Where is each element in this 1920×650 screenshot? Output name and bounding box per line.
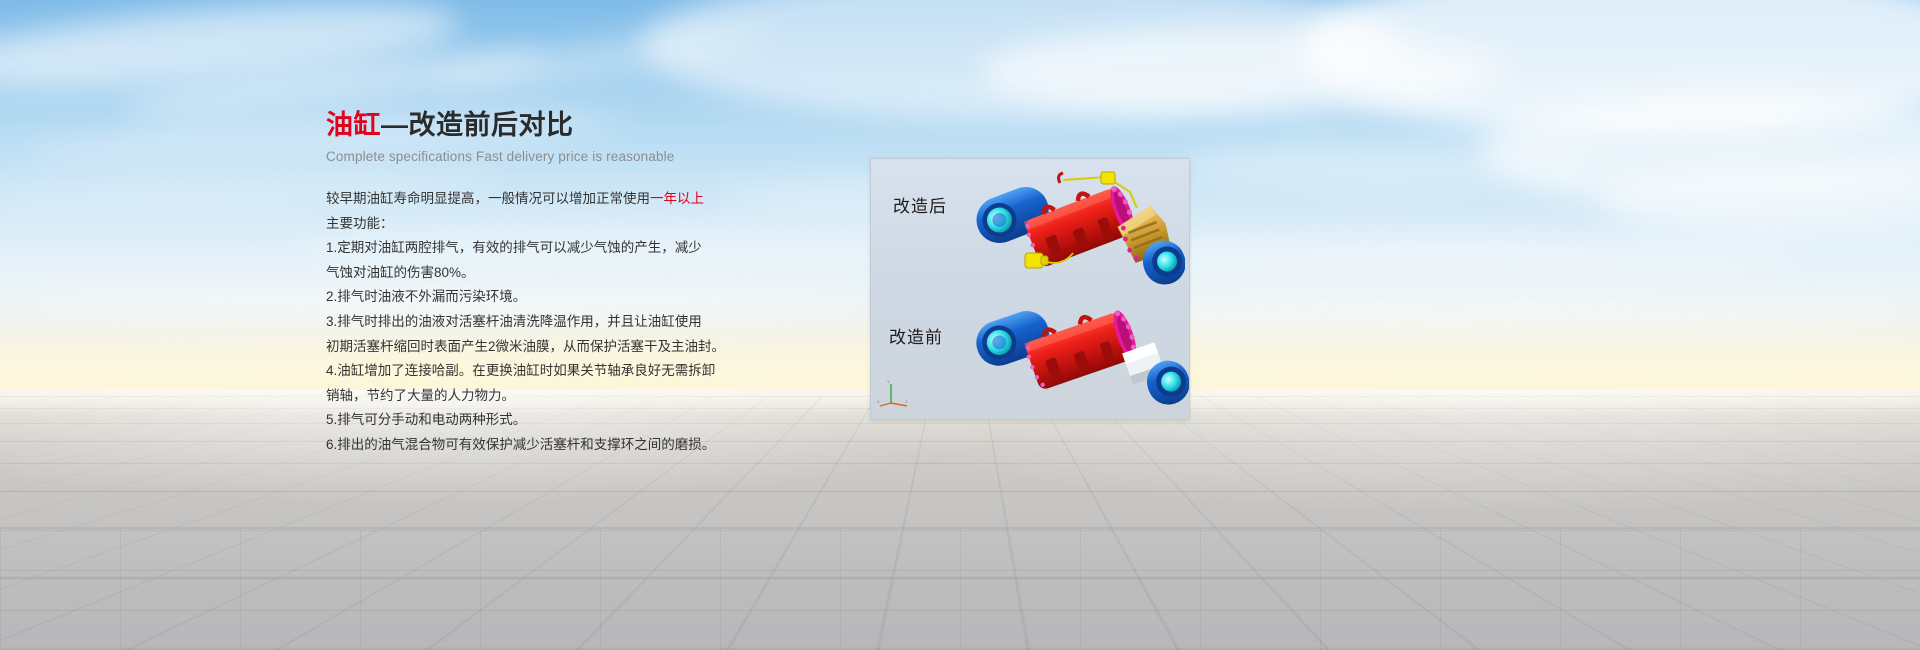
feature-line: 销轴，节约了大量的人力物力。 [326, 384, 846, 409]
feature-line-accent: 一年以上 [650, 191, 704, 206]
feature-line-text: 较早期油缸寿命明显提高，一般情况可以增加正常使用 [326, 191, 650, 206]
cloud-streak [429, 16, 770, 103]
plaza-ground [0, 390, 1920, 650]
feature-line: 1.定期对油缸两腔排气，有效的排气可以减少气蚀的产生，减少 [326, 236, 846, 261]
feature-line: 4.油缸增加了连接哈副。在更换油缸时如果关节轴承良好无需拆卸 [326, 359, 846, 384]
cloud-streak [1100, 236, 1800, 276]
feature-line: 较早期油缸寿命明显提高，一般情况可以增加正常使用一年以上 [326, 187, 846, 212]
label-after-modification: 改造后 [893, 192, 947, 217]
feature-line: 气蚀对油缸的伤害80%。 [326, 261, 846, 286]
cylinder-before-illustration [967, 294, 1189, 416]
axis-label-z: Z [905, 399, 908, 404]
banner-text-column: 油缸—改造前后对比 Complete specifications Fast d… [326, 108, 846, 458]
page-title-rest: —改造前后对比 [381, 110, 574, 140]
page-title: 油缸—改造前后对比 [326, 108, 846, 142]
cloud-puff [1600, 160, 1920, 240]
cloud-puff [1480, 90, 1920, 210]
feature-line: 6.排出的油气混合物可有效保护减少活塞杆和支撑环之间的磨损。 [326, 433, 846, 458]
page-title-highlight: 油缸 [326, 110, 381, 140]
feature-line: 5.排气可分手动和电动两种形式。 [326, 408, 846, 433]
axis-label-y: Y [887, 379, 890, 384]
feature-line: 主要功能： [326, 212, 846, 237]
product-comparison-panel: 改造后 改造前 [870, 158, 1190, 420]
cloud-puff [1300, 0, 1920, 140]
cylinder-after-illustration [967, 167, 1185, 295]
cloud-puff [980, 26, 1500, 116]
page-subtitle: Complete specifications Fast delivery pr… [326, 148, 846, 166]
axis-triad-icon: Y X Z [877, 379, 911, 409]
cloud-puff [640, 0, 1400, 120]
banner-stage: 油缸—改造前后对比 Complete specifications Fast d… [0, 0, 1920, 650]
feature-line: 2.排气时油液不外漏而污染环境。 [326, 285, 846, 310]
label-before-modification: 改造前 [889, 323, 943, 348]
feature-line: 初期活塞杆缩回时表面产生2微米油膜，从而保护活塞干及主油封。 [326, 335, 846, 360]
feature-line: 3.排气时排出的油液对活塞杆油清洗降温作用，并且让油缸使用 [326, 310, 846, 335]
cloud-streak [1180, 140, 1600, 190]
axis-label-x: X [877, 399, 880, 404]
feature-list: 较早期油缸寿命明显提高，一般情况可以增加正常使用一年以上 主要功能： 1.定期对… [326, 187, 846, 458]
ground-near-tile-grid [0, 530, 1920, 650]
cloud-streak [0, 0, 462, 103]
